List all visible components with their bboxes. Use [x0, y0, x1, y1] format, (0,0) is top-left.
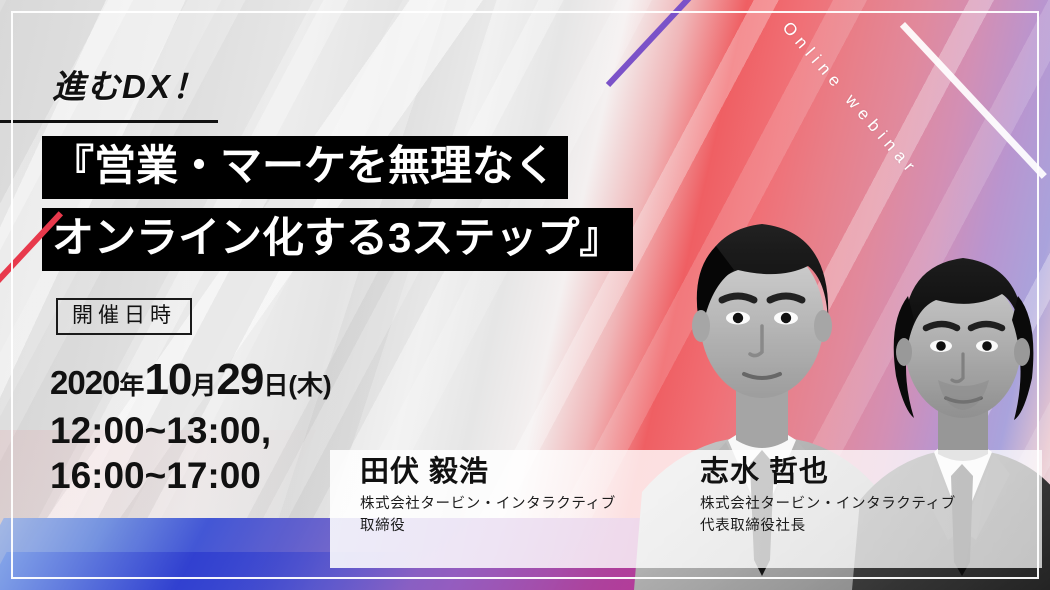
kicker-block: 進むDX！	[0, 70, 300, 103]
title-line-2: オンライン化する3ステップ』	[42, 208, 633, 271]
kicker-text: 進むDX！	[52, 70, 300, 103]
page-title: 『営業・マーケを無理なく オンライン化する3ステップ』	[42, 136, 633, 271]
event-time-1: 12:00~13:00,	[50, 408, 271, 453]
date-day-unit: 日	[263, 372, 288, 400]
event-date: 2020年10月29日(木)	[50, 358, 332, 402]
date-label-badge: 開催日時	[56, 298, 192, 335]
speaker-card-1: 田伏 毅浩 株式会社タービン・インタラクティブ 取締役	[360, 456, 660, 538]
speaker-card-2: 志水 哲也 株式会社タービン・インタラクティブ 代表取締役社長	[700, 456, 1020, 538]
title-line-1: 『営業・マーケを無理なく	[42, 136, 568, 199]
kicker-underline	[0, 120, 218, 123]
speaker-1-company: 株式会社タービン・インタラクティブ	[360, 494, 660, 516]
event-times: 12:00~13:00, 16:00~17:00	[50, 408, 271, 498]
date-month-unit: 月	[191, 372, 216, 400]
event-time-2: 16:00~17:00	[50, 453, 271, 498]
date-month: 10	[144, 355, 191, 404]
date-day: 29	[216, 355, 263, 404]
speaker-1-role: 取締役	[360, 516, 660, 538]
speaker-2-name: 志水 哲也	[700, 456, 1020, 489]
speaker-1-name: 田伏 毅浩	[360, 456, 660, 489]
speaker-2-company: 株式会社タービン・インタラクティブ	[700, 494, 1020, 516]
date-year: 2020	[50, 364, 119, 401]
webinar-banner: Online webinar 進むDX！ 『営業・マーケを無理なく オンライン化…	[0, 0, 1050, 590]
date-year-unit: 年	[119, 372, 144, 400]
speaker-2-role: 代表取締役社長	[700, 516, 1020, 538]
date-weekday: (木)	[288, 370, 331, 400]
